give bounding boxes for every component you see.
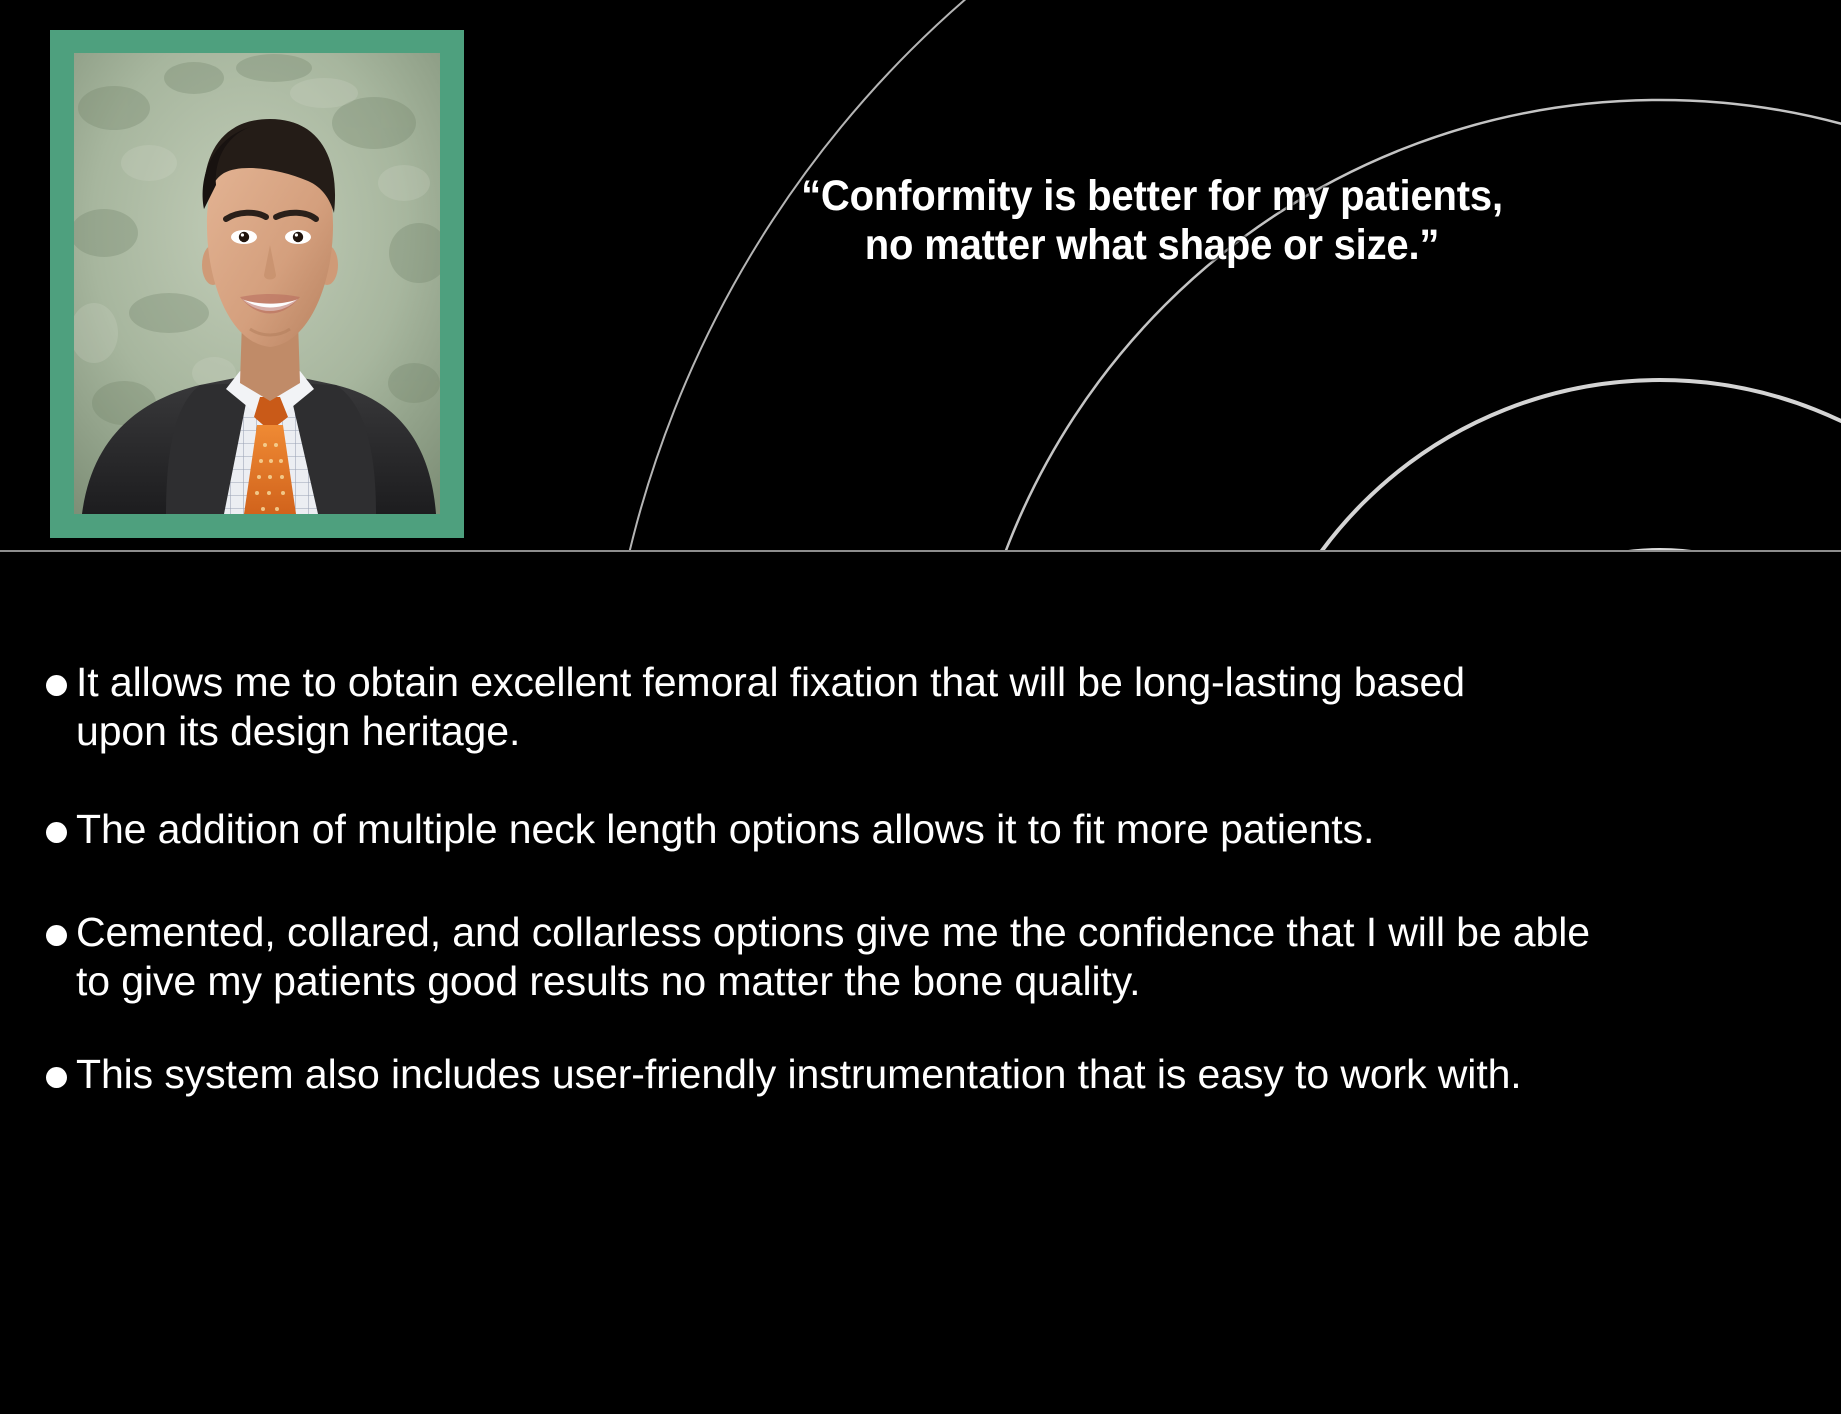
- bullet-marker-icon: [36, 805, 76, 849]
- list-item: Cemented, collared, and collarless optio…: [36, 908, 1596, 1006]
- ring-arc-outer: [600, 0, 1841, 552]
- bullet-text: This system also includes user-friendly …: [76, 1050, 1522, 1099]
- slide-root: “Conformity is better for my patients, n…: [0, 0, 1841, 1414]
- bullet-list: It allows me to obtain excellent femoral…: [0, 560, 1841, 1414]
- quote-text: “Conformity is better for my patients, n…: [520, 172, 1785, 270]
- bullet-marker-icon: [36, 658, 76, 702]
- bullet-text: The addition of multiple neck length opt…: [76, 805, 1374, 854]
- bullet-marker-icon: [36, 908, 76, 952]
- portrait-frame: [50, 30, 464, 538]
- portrait-photo: [74, 53, 440, 514]
- list-item: The addition of multiple neck length opt…: [36, 805, 1596, 854]
- ring-arc-medium: [1240, 380, 1841, 552]
- bullet-marker-icon: [36, 1050, 76, 1094]
- bullet-text: It allows me to obtain excellent femoral…: [76, 658, 1566, 756]
- bullet-text: Cemented, collared, and collarless optio…: [76, 908, 1596, 1006]
- list-item: This system also includes user-friendly …: [36, 1050, 1566, 1099]
- ring-arc-large: [960, 100, 1841, 552]
- header-band: “Conformity is better for my patients, n…: [0, 0, 1841, 552]
- section-divider: [0, 550, 1841, 552]
- list-item: It allows me to obtain excellent femoral…: [36, 658, 1566, 756]
